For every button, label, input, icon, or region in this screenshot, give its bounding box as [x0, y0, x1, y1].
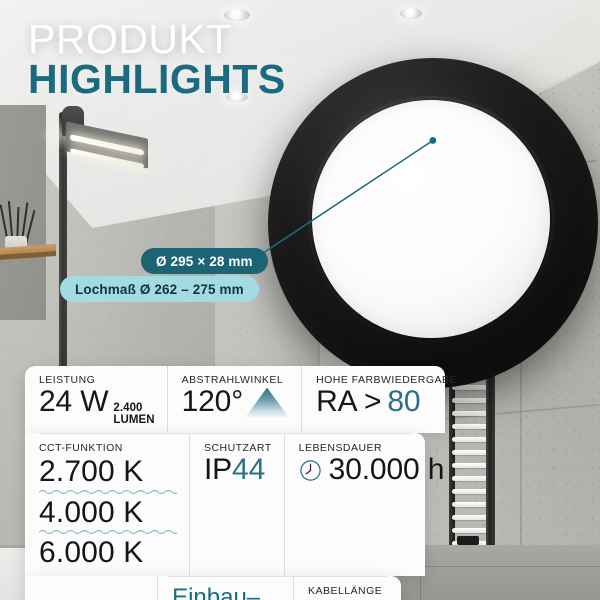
beam-angle-triangle-icon: [245, 388, 289, 418]
diameter-leader-line: [250, 130, 450, 270]
spec-row-3: Einbau– Montage KABELLÄNGE 12 cm: [25, 576, 401, 600]
spec-card: LEISTUNG 24 W 2.400 LUMEN ABSTRAHLWINKEL…: [25, 366, 445, 600]
cutout-dimension-badge: Lochmaß Ø 262 – 275 mm: [60, 276, 259, 302]
spec-cell-farbwiedergabe: HOHE FARBWIEDERGABE RA > 80: [301, 366, 469, 433]
recessed-spot-light: [400, 8, 422, 19]
clock-icon: [299, 459, 322, 482]
ip-prefix: IP: [204, 455, 232, 486]
spec-value: RA > 80: [316, 387, 457, 418]
spec-cell-cct: CCT-FUNKTION 2.700 K 4.000 K 6.000 K: [25, 434, 189, 576]
page-title: PRODUKT HIGHLIGHTS: [28, 20, 286, 100]
spec-label: CCT-FUNKTION: [39, 442, 177, 454]
spec-value: 30.000 h: [299, 455, 445, 486]
spec-value: 120°: [182, 387, 289, 418]
spec-row-1: LEISTUNG 24 W 2.400 LUMEN ABSTRAHLWINKEL…: [25, 366, 445, 433]
cct-value-3: 6.000 K: [39, 536, 177, 570]
mounting-type-line-1: Einbau–: [172, 585, 281, 600]
spec-cell-montage: Einbau– Montage: [157, 577, 293, 600]
radiator-valve: [457, 536, 479, 545]
lumen-unit: LUMEN: [113, 414, 154, 426]
spec-value: 24 W 2.400 LUMEN: [39, 387, 155, 427]
lumen-block: 2.400 LUMEN: [113, 403, 154, 427]
spec-value: IP 44: [204, 455, 272, 486]
product-highlight-image: PRODUKT HIGHLIGHTS Ø 295 × 28 mm Lochmaß…: [0, 0, 600, 600]
spec-cell-lebensdauer: LEBENSDAUER 30.000 h: [284, 434, 457, 576]
spec-cell-kabellaenge: KABELLÄNGE 12 cm: [293, 577, 401, 600]
spec-row-2: CCT-FUNKTION 2.700 K 4.000 K 6.000 K SCH…: [25, 433, 425, 576]
wavy-divider: [39, 529, 177, 535]
title-line-2: HIGHLIGHTS: [28, 60, 286, 100]
title-line-1: PRODUKT: [28, 20, 286, 60]
spec-cell-leistung: LEISTUNG 24 W 2.400 LUMEN: [25, 366, 167, 433]
spec-cell-abstrahlwinkel: ABSTRAHLWINKEL 120°: [167, 366, 301, 433]
power-value: 24 W: [39, 387, 108, 418]
spec-label: KABELLÄNGE: [308, 585, 389, 597]
cri-value: 80: [387, 387, 420, 418]
spec-cell-spacer: [25, 577, 157, 600]
beam-angle-value: 120°: [182, 387, 243, 418]
wavy-divider: [39, 489, 177, 495]
lumen-number: 2.400: [113, 402, 142, 414]
spec-cell-schutzart: SCHUTZART IP 44: [189, 434, 284, 576]
ip-rating: 44: [232, 455, 265, 486]
cri-prefix: RA >: [316, 387, 381, 418]
lifetime-value: 30.000 h: [329, 455, 445, 486]
cct-value-2: 4.000 K: [39, 496, 177, 530]
cct-value-1: 2.700 K: [39, 455, 177, 489]
dimension-badge: Ø 295 × 28 mm: [141, 248, 268, 274]
